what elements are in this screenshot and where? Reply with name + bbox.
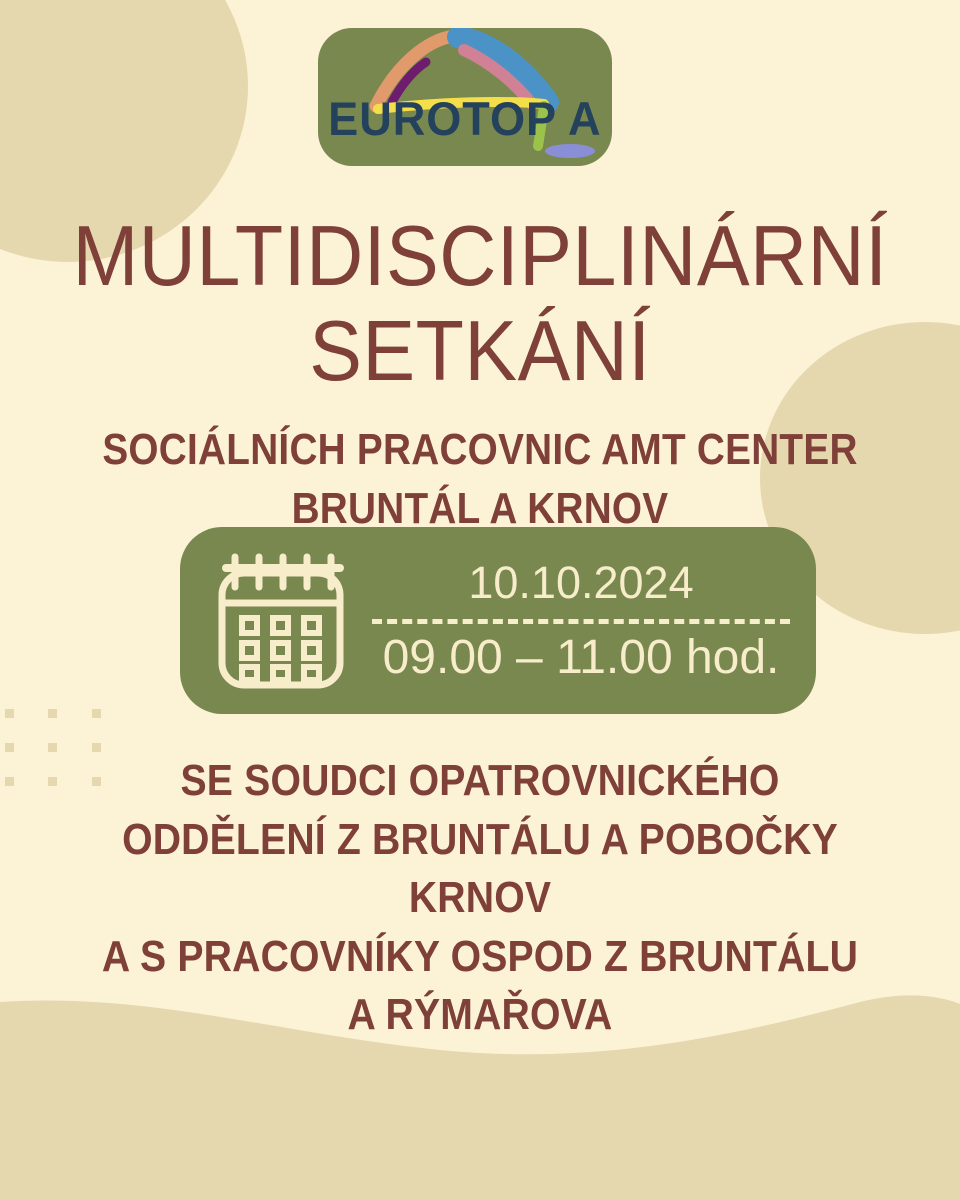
body-line-2: ODDĚLENÍ Z BRUNTÁLU A POBOČKY (53, 811, 907, 870)
poster-subtitle: SOCIÁLNÍCH PRACOVNIC AMT CENTER BRUNTÁL … (58, 420, 903, 539)
subtitle-line-1: SOCIÁLNÍCH PRACOVNIC AMT CENTER (58, 420, 903, 479)
date-time-card: 10.10.2024 09.00 – 11.00 hod. (180, 527, 816, 714)
body-line-1: SE SOUDCI OPATROVNICKÉHO (53, 752, 907, 811)
body-line-5: A RÝMAŘOVA (53, 986, 907, 1045)
eurotopia-logo: EUROTOP A (318, 28, 612, 166)
headline-line-2: SETKÁNÍ (34, 304, 927, 399)
poster-headline: MULTIDISCIPLINÁRNÍ SETKÁNÍ (34, 209, 927, 399)
event-time: 09.00 – 11.00 hod. (372, 634, 790, 682)
headline-line-1: MULTIDISCIPLINÁRNÍ (34, 209, 927, 304)
dashed-divider (372, 619, 790, 624)
svg-text:EUROTOP A: EUROTOP A (328, 92, 601, 145)
body-line-4: A S PRACOVNÍKY OSPOD Z BRUNTÁLU (53, 928, 907, 987)
poster-body-text: SE SOUDCI OPATROVNICKÉHO ODDĚLENÍ Z BRUN… (53, 752, 907, 1045)
calendar-icon (212, 551, 350, 691)
poster-canvas: EUROTOP A MULTIDISCIPLINÁRNÍ SETKÁNÍ SOC… (0, 0, 960, 1200)
date-time-text: 10.10.2024 09.00 – 11.00 hod. (372, 560, 816, 682)
body-line-3: KRNOV (53, 869, 907, 928)
event-date: 10.10.2024 (372, 560, 790, 605)
